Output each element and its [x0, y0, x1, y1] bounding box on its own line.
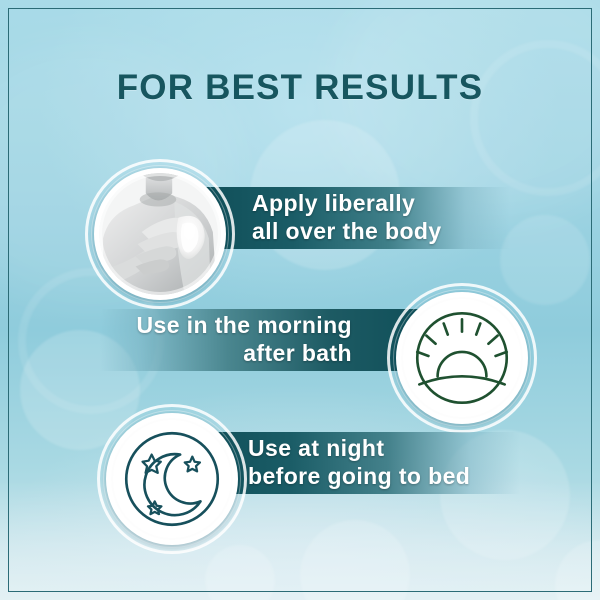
medallion-ring-inner	[106, 413, 238, 545]
step-row-night: Use at night before going to bed	[0, 388, 600, 538]
bokeh-circle-5	[555, 540, 600, 600]
step-banner-apply: Apply liberally all over the body	[190, 187, 510, 249]
step-apply-line2: all over the body	[252, 218, 510, 246]
bokeh-circle-6	[205, 545, 275, 600]
step-apply-line1: Apply liberally	[252, 190, 510, 218]
step-morning-line2: after bath	[100, 340, 352, 368]
step-night-line1: Use at night	[248, 435, 520, 463]
page-title: FOR BEST RESULTS	[0, 68, 600, 108]
step-banner-morning: Use in the morning after bath	[100, 309, 420, 371]
step-medallion-night	[97, 404, 247, 554]
step-morning-line1: Use in the morning	[100, 312, 352, 340]
crescent-moon-stars-icon	[111, 418, 233, 540]
step-night-line2: before going to bed	[248, 463, 520, 491]
poster-root: FOR BEST RESULTS Apply liberally all ove…	[0, 0, 600, 600]
